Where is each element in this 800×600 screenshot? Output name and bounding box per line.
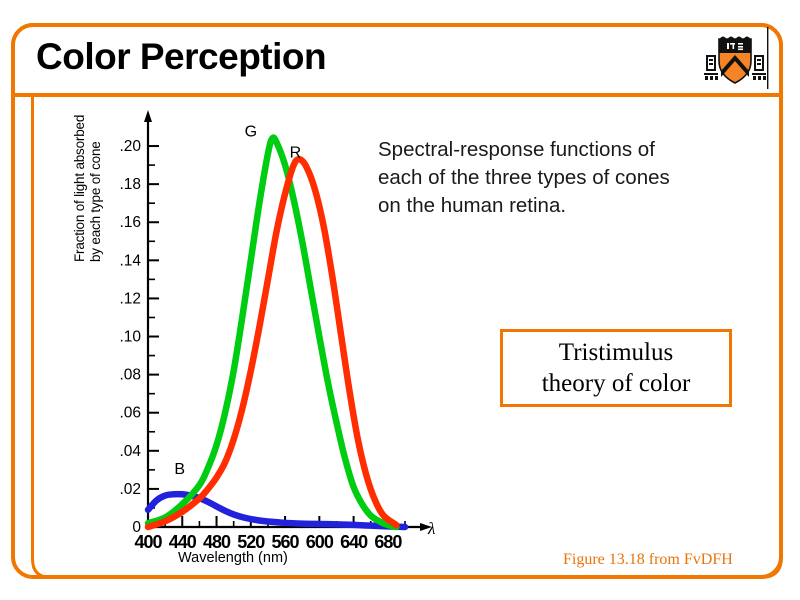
y-axis-arrow	[144, 110, 152, 122]
page-title: Color Perception	[36, 38, 326, 75]
figure-credit: Figure 13.18 from FvDFH	[563, 551, 733, 569]
tristimulus-callout: Tristimulus theory of color	[500, 329, 732, 407]
y-tick-label: .14	[119, 252, 141, 269]
y-tick-label: .12	[119, 290, 141, 307]
y-tick-label: .06	[119, 405, 141, 422]
x-tick-label: 480	[203, 532, 231, 550]
x-tick-label: 440	[169, 532, 197, 550]
callout-line-1: Tristimulus	[559, 337, 673, 368]
curve-label-G: G	[245, 124, 257, 141]
curve-outline-R	[148, 159, 396, 527]
y-tick-label: .08	[119, 367, 141, 384]
princeton-shield-logo	[699, 27, 773, 89]
curve-label-B: B	[174, 461, 185, 478]
spectral-response-chart: Fraction of light absorbed by each type …	[60, 110, 440, 575]
y-tick-label: .02	[119, 481, 141, 498]
x-tick-label: 600	[306, 532, 334, 550]
curve-G	[148, 138, 396, 527]
callout-line-2: theory of color	[542, 368, 691, 399]
y-axis-label-line-1: Fraction of light absorbed	[72, 115, 87, 262]
x-tick-label: 520	[237, 532, 265, 550]
x-tick-label: 560	[272, 532, 300, 550]
x-tick-label: 680	[374, 532, 402, 550]
y-tick-label: .04	[119, 443, 141, 460]
curve-R	[148, 159, 396, 527]
curve-outline-G	[148, 138, 396, 527]
x-axis-label: Wavelength (nm)	[178, 550, 288, 566]
y-axis-label-line-2: by each type of cone	[88, 141, 103, 262]
chart-plot-area: 0.02.04.06.08.10.12.14.16.18.20400440480…	[60, 110, 440, 550]
lambda-axis-symbol: λ	[428, 519, 435, 539]
x-tick-label: 400	[134, 532, 162, 550]
curve-label-R: R	[290, 145, 302, 162]
y-tick-label: .18	[119, 176, 141, 193]
slide: Color Perception	[0, 0, 800, 600]
x-tick-label: 640	[340, 532, 368, 550]
y-tick-label: .10	[119, 329, 141, 346]
y-tick-label: .20	[119, 138, 141, 155]
y-tick-label: .16	[119, 214, 141, 231]
